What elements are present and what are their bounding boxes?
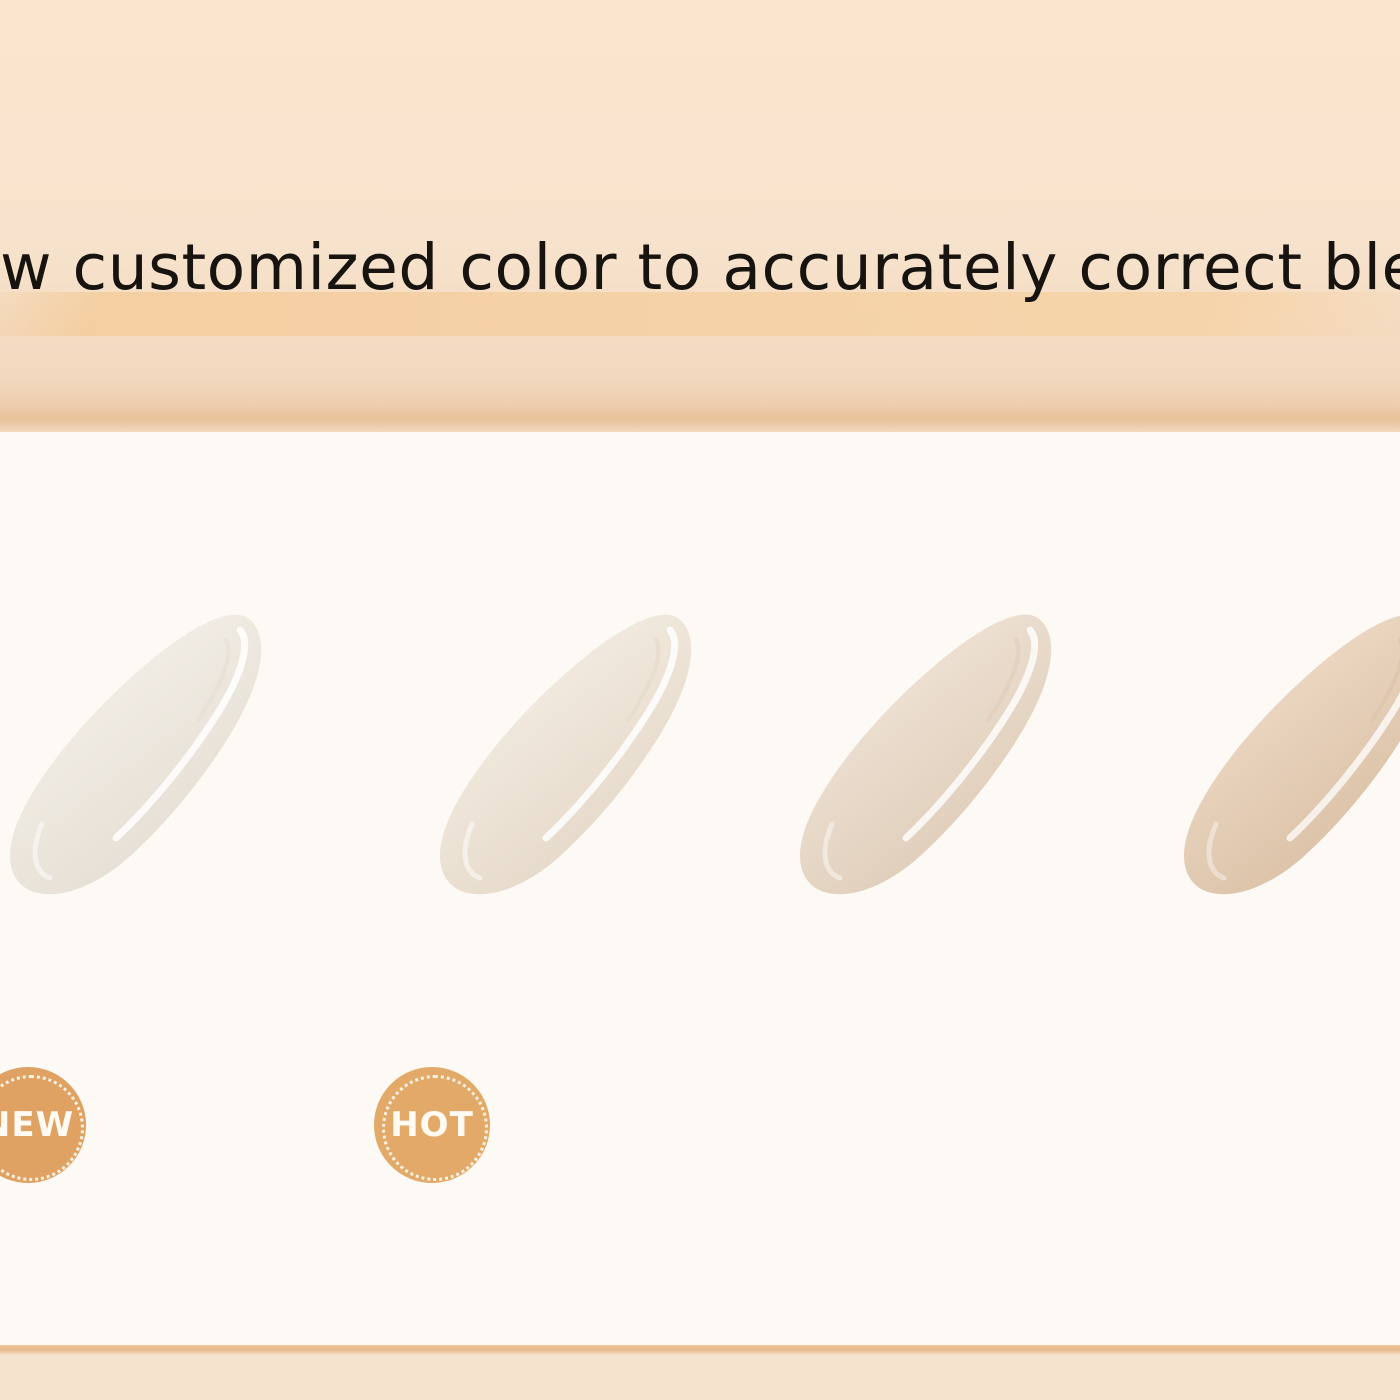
product-card[interactable]: NEW fair complexion able for fair skin c…: [0, 432, 312, 1345]
cream-swatch: [780, 610, 1080, 900]
badge-label: NEW: [0, 1108, 74, 1142]
bottom-band: [0, 1345, 1400, 1400]
product-info-poster: w customized color to accurately correct…: [0, 0, 1400, 1400]
product-card[interactable]: #03 dark compl Suitable for yellowish sk…: [1122, 432, 1400, 1345]
banner-bottom-fade: [0, 406, 1400, 432]
headline-banner: w customized color to accurately correct…: [0, 0, 1400, 432]
badge-new: NEW: [0, 1067, 86, 1183]
badge-label: HOT: [390, 1108, 474, 1142]
badge-hot: HOT: [374, 1067, 490, 1183]
product-card[interactable]: #02Natural color Suitable for natural sk…: [752, 432, 1122, 1345]
cream-swatch: [1164, 610, 1400, 900]
banner-headline: w customized color to accurately correct…: [0, 225, 1400, 311]
cream-swatch: [420, 610, 720, 900]
product-card[interactable]: HOT #01Bright complexion Suitable for na…: [322, 432, 752, 1345]
cream-swatch: [0, 610, 290, 900]
product-shade-row: NEW fair complexion able for fair skin c…: [0, 432, 1400, 1345]
bottom-divider-rule: [0, 1345, 1400, 1354]
